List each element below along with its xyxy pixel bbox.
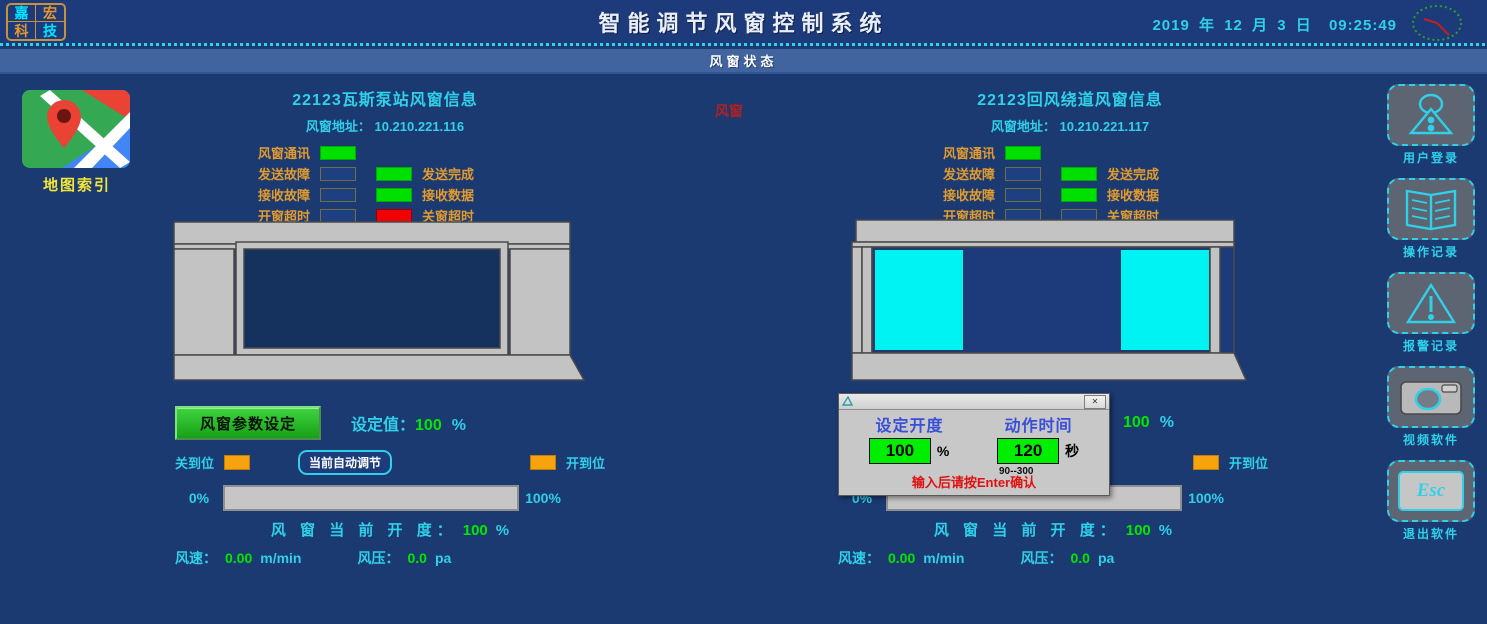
sidebar-item-video-software[interactable]: 视频软件 (1383, 366, 1479, 448)
status-label-secondary: 接收数据 (422, 185, 474, 204)
opening-progress-bar[interactable] (223, 485, 519, 511)
set-value-unit: % (452, 417, 466, 434)
sidebar-item-operation-record[interactable]: 操作记录 (1383, 178, 1479, 260)
status-label-secondary: 发送完成 (422, 164, 474, 183)
dialog-body: 设定开度 动作时间 100 % 120 秒 (839, 410, 1109, 464)
wind-speed-value: 0.00 (225, 550, 252, 566)
status-row: 发送故障 发送完成 (236, 163, 620, 184)
bar-min-label: 0% (175, 490, 223, 506)
center-note: 风窗 (715, 101, 743, 121)
wind-pressure-unit: pa (435, 550, 451, 566)
status-band: 风窗状态 (0, 49, 1487, 74)
datetime-display: 2019 年 12 月 3 日 09:25:49 (1152, 14, 1397, 35)
sidebar-item-user-login[interactable]: 用户登录 (1383, 84, 1479, 166)
status-lamp (1005, 146, 1041, 160)
status-lamp-secondary (376, 167, 412, 181)
current-opening-label: 风 窗 当 前 开 度： (271, 522, 457, 539)
measurement-readout: 风速： 0.00 m/min 风压： 0.0 pa (838, 548, 1268, 568)
action-time-heading: 动作时间 (1004, 412, 1072, 436)
wind-speed-label: 风速： (838, 548, 880, 568)
current-opening-readout: 风 窗 当 前 开 度：100% (175, 519, 605, 540)
map-index-label: 地图索引 (22, 174, 132, 195)
status-row: 发送故障 发送完成 (921, 163, 1305, 184)
status-lamp (320, 188, 356, 202)
analog-clock-icon (1409, 4, 1465, 42)
open-position-label: 开到位 (566, 453, 605, 472)
camera-icon (1398, 376, 1464, 418)
station-panel-right: 22123回风绕道风窗信息 风窗地址： 10.210.221.117 风窗通讯 … (835, 86, 1305, 226)
action-time-input[interactable]: 120 (997, 438, 1059, 464)
status-lamp-secondary (1061, 188, 1097, 202)
current-opening-value: 100 (1126, 522, 1151, 539)
auto-mode-badge: 当前自动调节 (298, 450, 392, 475)
action-time-input-group: 120 秒 (997, 438, 1079, 464)
right-sidebar: 用户登录 操作记录 报警记录 (1383, 84, 1479, 554)
status-lamp (320, 167, 356, 181)
date-year: 2019 (1152, 17, 1189, 34)
status-lamp (1005, 188, 1041, 202)
sidebar-item-exit-software[interactable]: Esc 退出软件 (1383, 460, 1479, 542)
open-position-indicator (1193, 455, 1219, 470)
esc-key-icon: Esc (1398, 471, 1464, 511)
top-bar: 嘉 宏 科 技 智能调节风窗控制系统 2019 年 12 月 3 日 09:25… (0, 0, 1487, 46)
dialog-headings: 设定开度 动作时间 (845, 412, 1103, 436)
status-lamp-secondary (1061, 167, 1097, 181)
status-label: 风窗通讯 (236, 143, 310, 162)
status-label: 发送故障 (236, 164, 310, 183)
opening-setting-heading: 设定开度 (875, 412, 943, 436)
wind-speed-unit: m/min (923, 550, 964, 566)
sidebar-item-alarm-record[interactable]: 报警记录 (1383, 272, 1479, 354)
status-label-secondary: 发送完成 (1107, 164, 1159, 183)
set-value-display: 设定值：100% (351, 411, 466, 435)
wind-speed-value: 0.00 (888, 550, 915, 566)
station-address: 风窗地址： 10.210.221.116 (150, 116, 620, 135)
status-label: 接收故障 (236, 185, 310, 204)
station-title: 22123回风绕道风窗信息 (835, 86, 1305, 110)
status-label: 接收故障 (921, 185, 995, 204)
opening-input-group: 100 % (869, 438, 949, 464)
status-band-label: 风窗状态 (709, 51, 777, 70)
alarm-record-button[interactable] (1387, 272, 1475, 334)
sidebar-label-user-login: 用户登录 (1383, 149, 1479, 166)
status-label: 风窗通讯 (921, 143, 995, 162)
window-diagram-left (172, 220, 590, 388)
status-row: 接收故障 接收数据 (921, 184, 1305, 205)
warning-triangle-icon (1404, 281, 1458, 325)
dialog-enter-note: 输入后请按Enter确认 (839, 472, 1109, 491)
opening-input-unit: % (937, 443, 949, 459)
wind-speed-unit: m/min (260, 550, 301, 566)
map-pin-icon (22, 90, 130, 168)
wind-pressure-value: 0.0 (407, 550, 426, 566)
dialog-inputs: 100 % 120 秒 (845, 438, 1103, 464)
date-year-unit: 年 (1199, 17, 1215, 34)
video-software-button[interactable] (1387, 366, 1475, 428)
current-opening-value: 100 (463, 522, 488, 539)
status-label: 发送故障 (921, 164, 995, 183)
clock-time: 09:25:49 (1329, 17, 1397, 34)
current-opening-readout: 风 窗 当 前 开 度：100% (838, 519, 1268, 540)
status-label-secondary: 接收数据 (1107, 185, 1159, 204)
station-address-value: 10.210.221.117 (1059, 119, 1149, 134)
exit-software-button[interactable]: Esc (1387, 460, 1475, 522)
open-position-indicator (530, 455, 556, 470)
window-diagram-right (848, 218, 1248, 388)
position-row: 关到位 当前自动调节 开到位 (175, 445, 605, 479)
action-time-input-unit: 秒 (1065, 441, 1079, 461)
status-indicator-list: 风窗通讯 发送故障 发送完成 接收故障 接收数据 开窗超时 关窗超时 (835, 142, 1305, 226)
status-lamp (320, 146, 356, 160)
opening-input[interactable]: 100 (869, 438, 931, 464)
current-opening-unit: % (1159, 522, 1172, 539)
map-index-button[interactable]: 地图索引 (22, 90, 132, 195)
wind-pressure-label: 风压： (1020, 548, 1062, 568)
status-lamp (1005, 167, 1041, 181)
status-lamp-secondary (376, 188, 412, 202)
status-indicator-list: 风窗通讯 发送故障 发送完成 接收故障 接收数据 开窗超时 关窗超时 (150, 142, 620, 226)
open-position-label: 开到位 (1229, 453, 1268, 472)
status-row: 接收故障 接收数据 (236, 184, 620, 205)
opening-bar-row: 0% 100% (175, 481, 605, 515)
station-panel-left: 22123瓦斯泵站风窗信息 风窗地址： 10.210.221.116 风窗通讯 … (150, 86, 620, 226)
date-month: 12 (1224, 17, 1243, 34)
user-login-button[interactable] (1387, 84, 1475, 146)
wind-speed-label: 风速： (175, 548, 217, 568)
date-month-unit: 月 (1252, 17, 1268, 34)
book-icon (1402, 187, 1460, 231)
status-row: 风窗通讯 (921, 142, 1305, 163)
set-value-number: 100 (1123, 414, 1150, 431)
sidebar-label-operation-record: 操作记录 (1383, 243, 1479, 260)
set-value-number: 100 (415, 417, 442, 434)
app-icon (842, 396, 853, 407)
bar-max-label: 100% (519, 490, 567, 506)
user-icon (1404, 93, 1458, 137)
measurement-readout: 风速： 0.00 m/min 风压： 0.0 pa (175, 548, 605, 568)
set-value-display: 100% (1123, 414, 1174, 432)
station-address-value: 10.210.221.116 (374, 119, 464, 134)
wind-pressure-unit: pa (1098, 550, 1114, 566)
sidebar-label-exit-software: 退出软件 (1383, 525, 1479, 542)
wind-pressure-label: 风压： (357, 548, 399, 568)
station-address-label: 风窗地址： (991, 119, 1056, 134)
status-row: 风窗通讯 (236, 142, 620, 163)
sidebar-label-alarm-record: 报警记录 (1383, 337, 1479, 354)
parameter-setting-dialog: ✕ 设定开度 动作时间 100 % 120 秒 90--300 输入后请按Ent… (838, 393, 1110, 496)
date-day-unit: 日 (1296, 17, 1312, 34)
current-opening-label: 风 窗 当 前 开 度： (934, 522, 1120, 539)
close-icon[interactable]: ✕ (1084, 395, 1106, 409)
operation-record-button[interactable] (1387, 178, 1475, 240)
set-value-label: 设定值： (351, 417, 415, 434)
station-address-label: 风窗地址： (306, 119, 371, 134)
station-address: 风窗地址： 10.210.221.117 (835, 116, 1305, 135)
closed-position-label: 关到位 (175, 453, 214, 472)
station-title: 22123瓦斯泵站风窗信息 (150, 86, 620, 110)
date-day: 3 (1277, 17, 1286, 34)
dialog-title-bar[interactable]: ✕ (839, 394, 1109, 410)
control-panel-left: 风窗参数设定 设定值：100% 关到位 当前自动调节 开到位 0% 100% 风… (175, 405, 605, 568)
current-opening-unit: % (496, 522, 509, 539)
set-row: 风窗参数设定 设定值：100% (175, 405, 605, 441)
set-value-unit: % (1160, 414, 1174, 431)
window-parameter-setting-button[interactable]: 风窗参数设定 (175, 406, 321, 440)
sidebar-label-video-software: 视频软件 (1383, 431, 1479, 448)
bar-max-label: 100% (1182, 490, 1230, 506)
closed-position-indicator (224, 455, 250, 470)
wind-pressure-value: 0.0 (1070, 550, 1089, 566)
